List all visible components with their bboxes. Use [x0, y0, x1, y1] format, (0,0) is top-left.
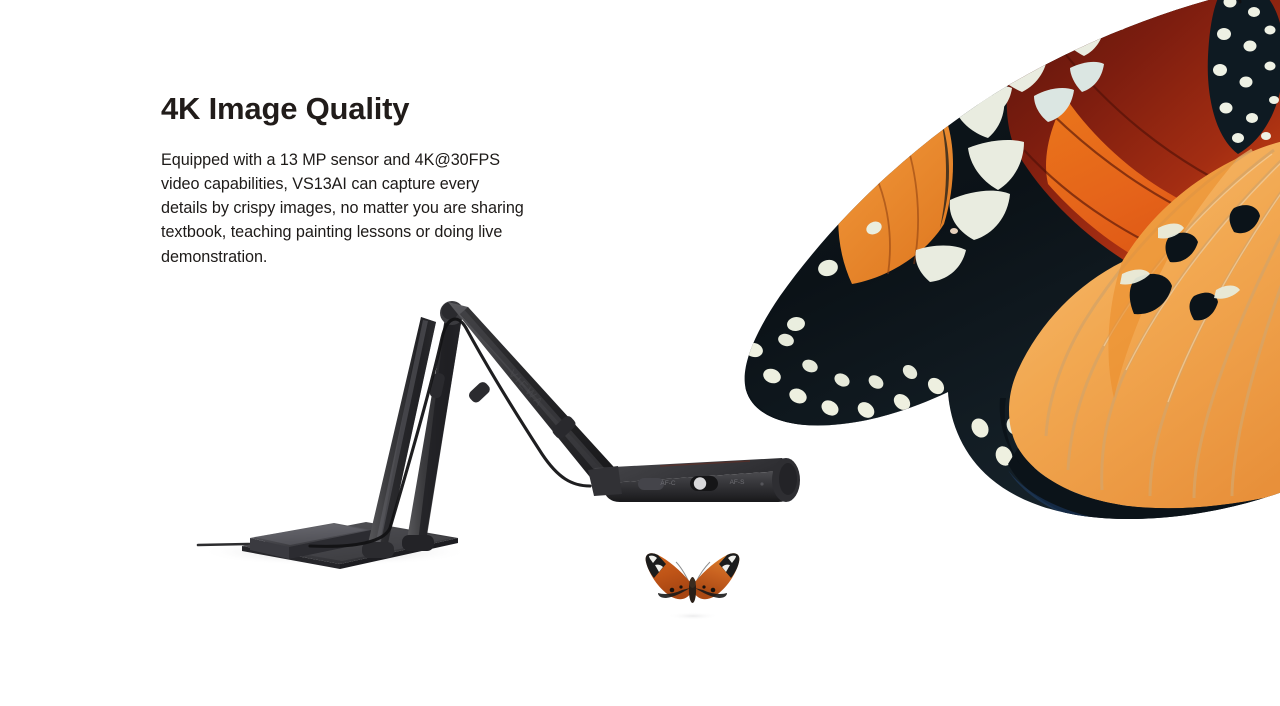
marketing-slide: 4K Image Quality Equipped with a 13 MP s… — [0, 0, 1280, 706]
product-description: Equipped with a 13 MP sensor and 4K@30FP… — [161, 127, 591, 269]
vertical-column — [362, 301, 464, 558]
diagonal-arm: VIEWA — [448, 302, 622, 492]
head-neck — [588, 466, 622, 496]
small-butterfly-shadow — [667, 612, 719, 620]
small-butterfly-right-wing — [695, 553, 739, 599]
column-foot-front — [362, 542, 394, 558]
toggle-switch[interactable] — [690, 476, 718, 491]
arm-cable-clip-upper — [467, 380, 492, 405]
magnified-butterfly-wing-image — [718, 0, 1280, 538]
page-title: 4K Image Quality — [161, 92, 591, 127]
small-butterfly-image — [636, 538, 748, 622]
copy-block: 4K Image Quality Equipped with a 13 MP s… — [161, 92, 591, 269]
small-butterfly-left-wing — [646, 553, 690, 599]
column-foot-rear — [402, 535, 434, 551]
forewing-highlight-speck — [950, 228, 958, 234]
switch-label-afc: AF-C — [660, 480, 675, 487]
